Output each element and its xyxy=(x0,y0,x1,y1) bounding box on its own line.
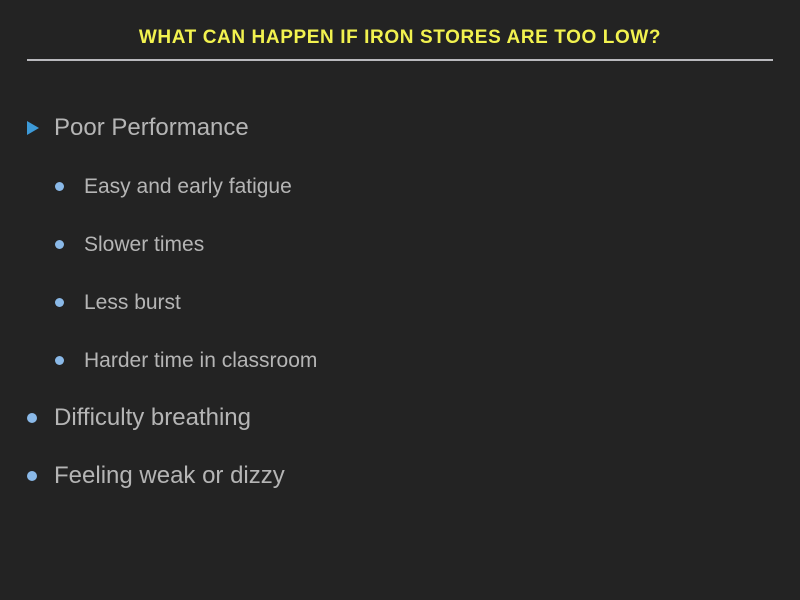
dot-bullet-icon xyxy=(55,356,84,365)
list-item-label: Easy and early fatigue xyxy=(84,174,292,199)
triangle-bullet-icon xyxy=(27,121,54,135)
bullet-list: Poor Performance Easy and early fatigue … xyxy=(0,99,800,505)
dot-bullet-icon xyxy=(55,298,84,307)
list-item: Easy and early fatigue xyxy=(0,157,800,215)
list-item: Slower times xyxy=(0,215,800,273)
dot-bullet-icon xyxy=(27,413,54,423)
list-item-label: Difficulty breathing xyxy=(54,404,251,432)
dot-bullet-icon xyxy=(55,240,84,249)
list-item-label: Slower times xyxy=(84,232,204,257)
title-divider xyxy=(27,59,773,61)
dot-bullet-icon xyxy=(55,182,84,191)
list-item: Feeling weak or dizzy xyxy=(0,447,800,505)
slide-header: What can happen if iron stores are too l… xyxy=(27,26,773,61)
list-item: Harder time in classroom xyxy=(0,331,800,389)
page-title: What can happen if iron stores are too l… xyxy=(27,26,773,50)
list-item: Less burst xyxy=(0,273,800,331)
presentation-slide: What can happen if iron stores are too l… xyxy=(0,0,800,600)
list-item-label: Less burst xyxy=(84,290,181,315)
list-item: Poor Performance xyxy=(0,99,800,157)
list-item: Difficulty breathing xyxy=(0,389,800,447)
list-item-label: Harder time in classroom xyxy=(84,348,317,373)
list-item-label: Feeling weak or dizzy xyxy=(54,462,285,490)
list-item-label: Poor Performance xyxy=(54,114,249,142)
dot-bullet-icon xyxy=(27,471,54,481)
